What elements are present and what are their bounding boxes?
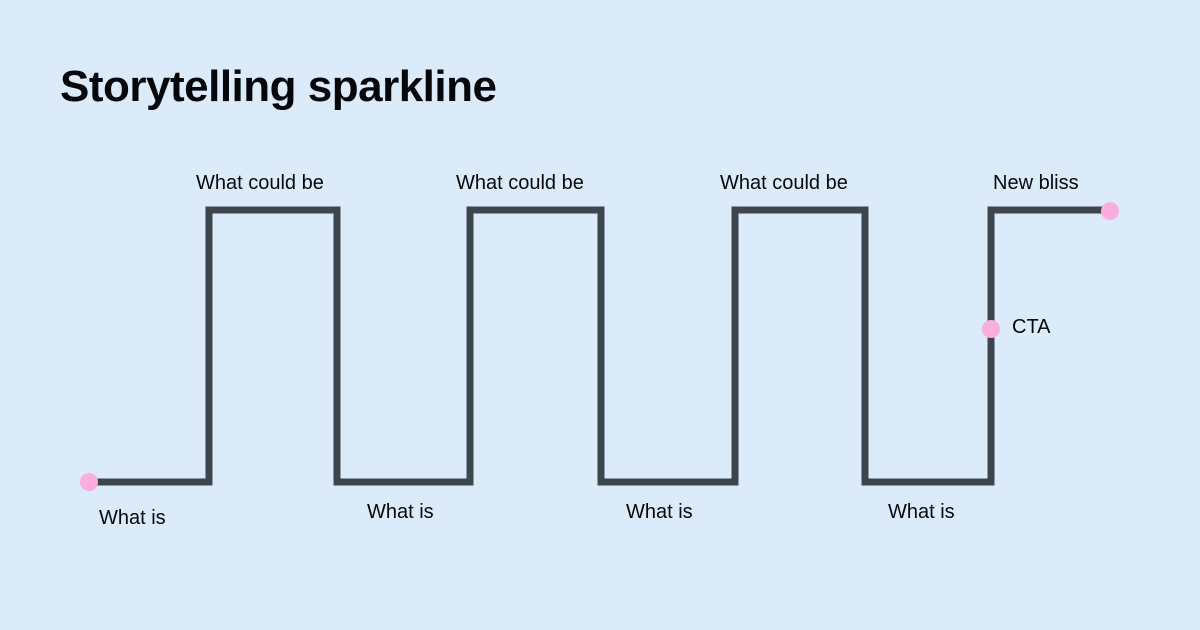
sparkline-canvas: Storytelling sparkline What could be Wha… <box>0 0 1200 630</box>
marker-end-dot[interactable] <box>1101 202 1119 220</box>
annotation-what-is-2: What is <box>367 502 434 522</box>
sparkline-chart <box>0 0 1200 630</box>
annotation-what-is-3: What is <box>626 502 693 522</box>
annotation-what-is-1: What is <box>99 508 166 528</box>
marker-cta-dot[interactable] <box>982 320 1000 338</box>
annotation-what-could-be-3: What could be <box>720 173 848 193</box>
annotation-what-could-be-1: What could be <box>196 173 324 193</box>
marker-start-dot[interactable] <box>80 473 98 491</box>
annotation-what-is-4: What is <box>888 502 955 522</box>
annotation-what-could-be-2: What could be <box>456 173 584 193</box>
annotation-cta: CTA <box>1012 317 1051 337</box>
annotation-new-bliss: New bliss <box>993 173 1079 193</box>
sparkline-path <box>89 210 1110 482</box>
